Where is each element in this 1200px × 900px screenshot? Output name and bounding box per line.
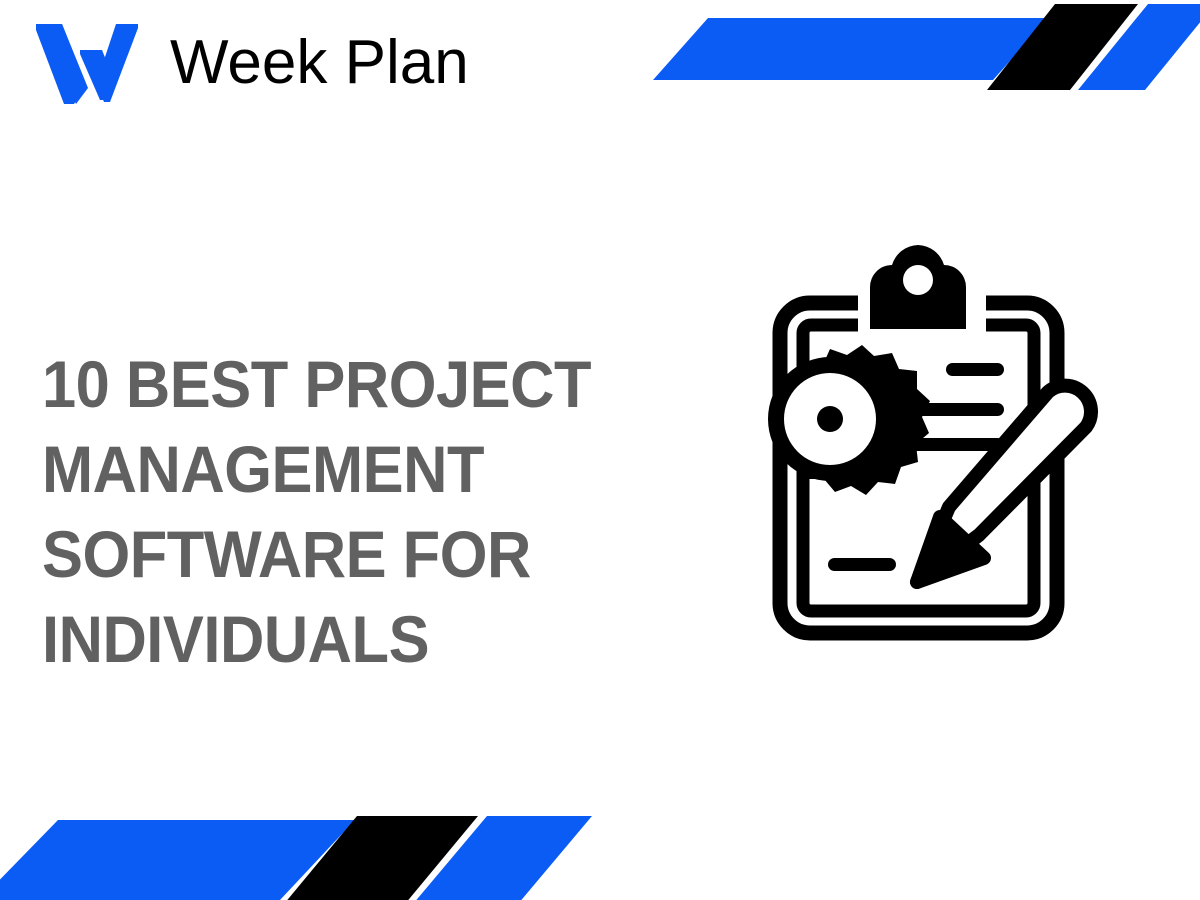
gear-icon <box>768 345 930 495</box>
week-plan-w-logo-icon <box>34 22 142 104</box>
headline-line-1: 10 BEST PROJECT <box>42 342 637 427</box>
clipboard-gear-pencil-illustration <box>718 245 1138 655</box>
headline-line-3: SOFTWARE FOR <box>42 512 637 597</box>
top-right-stripe-group <box>640 0 1200 110</box>
headline-line-2: MANAGEMENT <box>42 427 637 512</box>
cover-canvas: Week Plan 10 BEST PROJECT MANAGEMENT SOF… <box>0 0 1200 900</box>
bottom-left-stripe-group <box>0 800 620 900</box>
clipboard-clip-icon <box>858 245 986 335</box>
blue-stripe-wide <box>653 18 1048 80</box>
document-line-icon <box>828 558 896 571</box>
brand-header: Week Plan <box>34 22 469 104</box>
page-title: 10 BEST PROJECT MANAGEMENT SOFTWARE FOR … <box>42 342 637 682</box>
document-line-icon <box>946 363 1004 376</box>
headline-line-4: INDIVIDUALS <box>42 597 637 682</box>
brand-name: Week Plan <box>170 32 469 94</box>
